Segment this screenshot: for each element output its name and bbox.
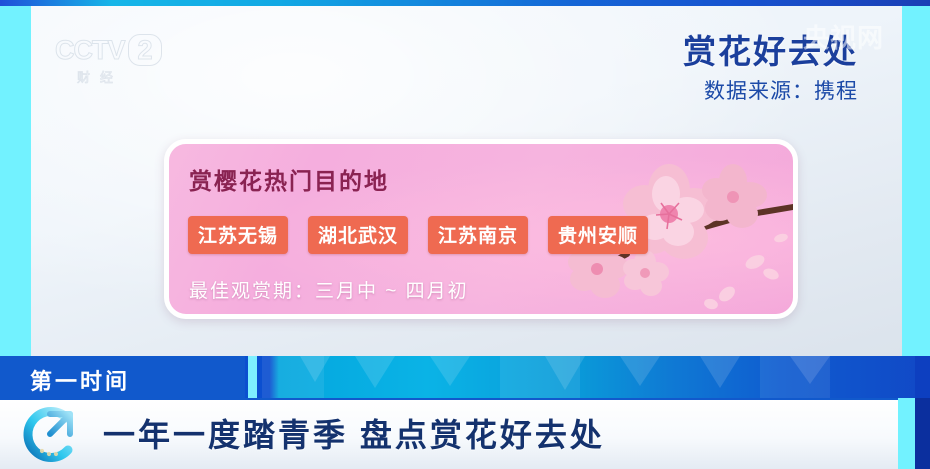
lower-third-band-right-cap: [915, 356, 930, 398]
headline-block: 赏花好去处 数据来源：携程: [683, 32, 858, 105]
right-cyan-bar: [902, 6, 930, 356]
program-swirl-logo-icon: [20, 404, 82, 466]
best-period-note: 最佳观赏期：三月中 ~ 四月初: [189, 276, 469, 303]
destination-tag[interactable]: 湖北武汉: [308, 216, 408, 254]
destination-card: 赏樱花热门目的地 江苏无锡 湖北武汉 江苏南京 贵州安顺 最佳观赏期：三月中 ~…: [164, 139, 798, 319]
card-heading: 赏樱花热门目的地: [189, 162, 389, 196]
lower-third-right-cyan-cap: [898, 398, 915, 469]
lower-third-right-blue-cap: [915, 398, 930, 469]
content-stage: CCTV2 财经 赏花好去处 数据来源：携程 央视网: [31, 6, 902, 356]
destination-tag[interactable]: 贵州安顺: [548, 216, 648, 254]
news-headline: 一年一度踏青季 盘点赏花好去处: [103, 415, 605, 455]
program-label: 第一时间: [30, 364, 130, 396]
broadcast-screen: CCTV2 财经 赏花好去处 数据来源：携程 央视网: [0, 0, 930, 469]
left-cyan-bar: [0, 6, 31, 356]
page-title: 赏花好去处: [683, 32, 858, 72]
lower-third-divider: [248, 356, 257, 398]
destination-tag[interactable]: 江苏南京: [428, 216, 528, 254]
destination-tag[interactable]: 江苏无锡: [188, 216, 288, 254]
data-source-label: 数据来源：携程: [683, 79, 858, 105]
destination-tag-list: 江苏无锡 湖北武汉 江苏南京 贵州安顺: [188, 216, 648, 254]
